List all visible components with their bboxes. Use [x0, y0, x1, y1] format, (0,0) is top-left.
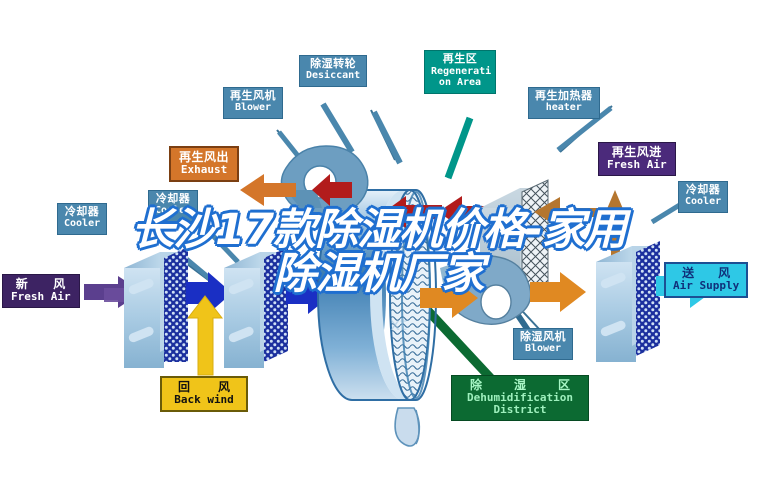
label-fresh-air-inlet: 新 风 Fresh Air [2, 274, 80, 308]
cooler-coil-3 [596, 241, 660, 362]
label-cn: 新 风 [11, 278, 71, 291]
label-exhaust: 再生风出 Exhaust [169, 146, 239, 182]
label-en: Exhaust [179, 164, 229, 176]
label-en-line2: on Area [431, 77, 489, 89]
svg-text:xt: xt [390, 315, 407, 335]
label-en: Blower [520, 344, 566, 355]
label-dehumidification-blower: 除湿风机 Blower [513, 328, 573, 360]
label-cooler-left-outer: 冷却器 Cooler [57, 203, 107, 235]
label-en: Air Supply [673, 280, 739, 292]
label-cooler-left-inner: 冷却器 Cooler [148, 190, 198, 222]
label-dehumidification-district: 除 湿 区 Dehumidification District [451, 375, 589, 421]
label-en-line1: Regenerati [431, 66, 489, 78]
label-air-supply: 送 风 Air Supply [664, 262, 748, 298]
label-en: Back wind [170, 394, 238, 406]
label-regeneration-fresh-air: 再生风进 Fresh Air [598, 142, 676, 176]
label-en: Cooler [685, 197, 721, 208]
label-en: Desiccant [306, 71, 360, 82]
label-regeneration-area: 再生区 Regenerati on Area [424, 50, 496, 94]
label-back-wind: 回 风 Back wind [160, 376, 248, 412]
label-cn: 除 湿 区 [460, 379, 580, 392]
label-en-line2: District [460, 404, 580, 416]
label-en: heater [535, 103, 593, 114]
cooler-coil-1 [124, 247, 188, 368]
label-cn: 再生风进 [607, 146, 667, 159]
dehumidifier-schematic: xt [0, 0, 757, 488]
cooler-coil-2 [224, 247, 288, 368]
label-en: Fresh Air [11, 291, 71, 303]
label-cn: 送 风 [673, 267, 739, 280]
diagram-canvas: xt [0, 0, 757, 488]
label-desiccant-wheel: 除湿转轮 Desiccant [299, 55, 367, 87]
label-en: Fresh Air [607, 159, 667, 171]
label-en: Cooler [64, 219, 100, 230]
label-en: Blower [230, 103, 276, 114]
label-cn: 再生风出 [179, 151, 229, 164]
label-en: Cooler [155, 206, 191, 217]
label-regeneration-heater: 再生加热器 heater [528, 87, 600, 119]
label-cooler-right: 冷却器 Cooler [678, 181, 728, 213]
label-cn: 回 风 [170, 381, 238, 394]
label-regeneration-blower: 再生风机 Blower [223, 87, 283, 119]
label-cn: 再生区 [431, 54, 489, 66]
